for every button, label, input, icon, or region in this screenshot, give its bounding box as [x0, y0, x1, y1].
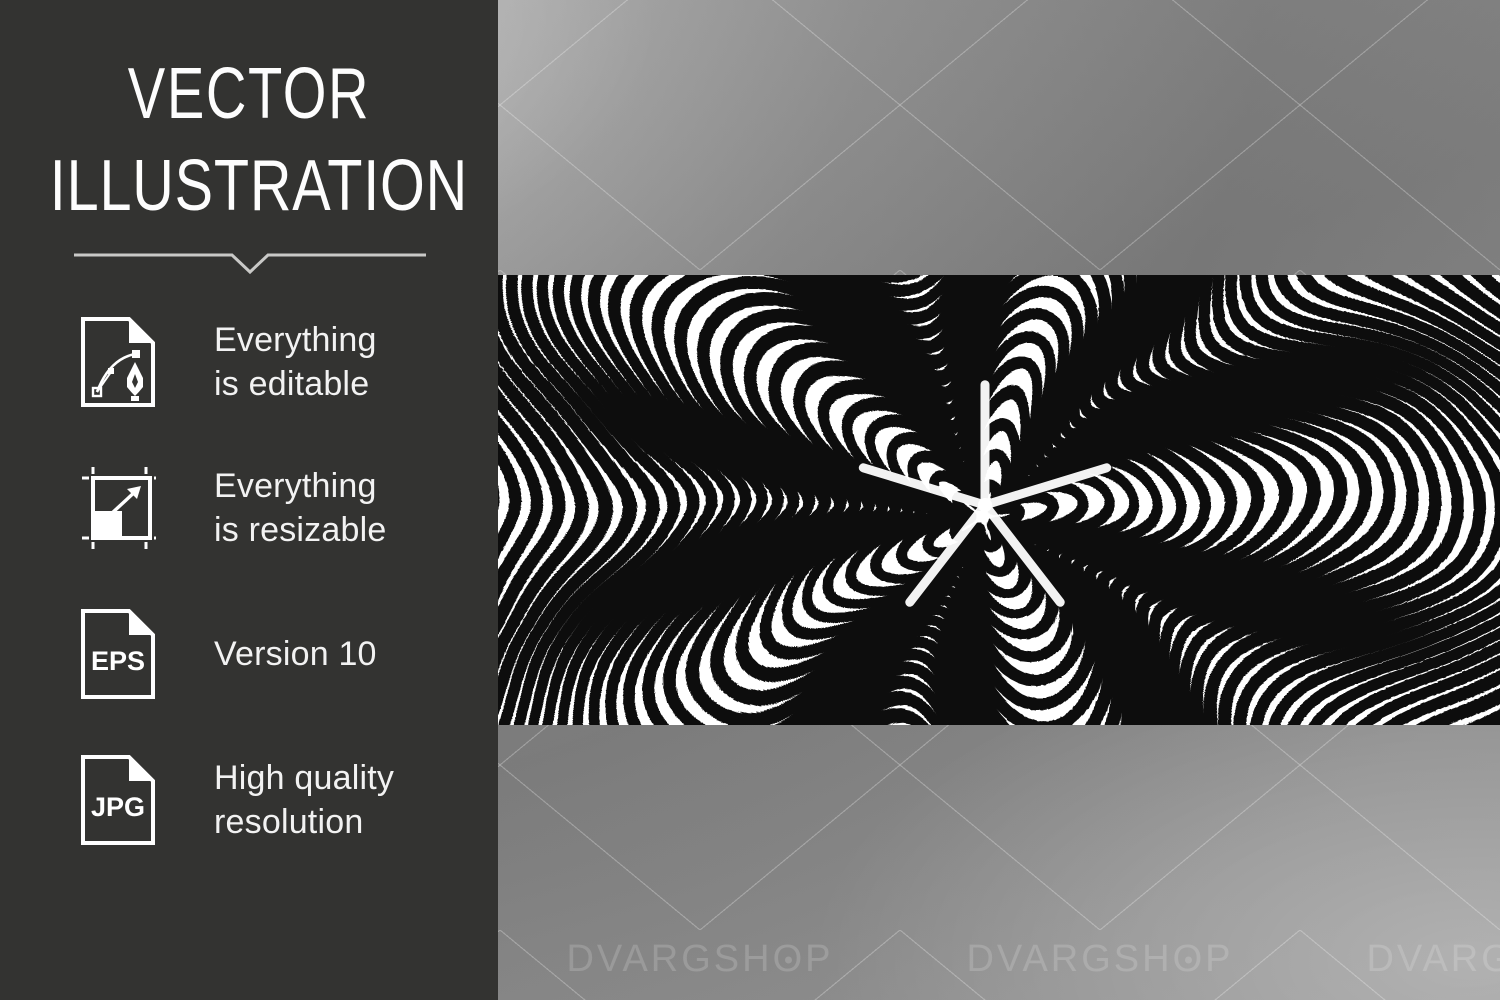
eps-file-icon-label: EPS	[91, 646, 145, 676]
feature-label-resizable: Everything is resizable	[214, 464, 386, 552]
title-block: VECTOR ILLUSTRATION	[0, 58, 498, 222]
feature-item-eps: EPS Version 10	[0, 598, 498, 710]
page-subtitle: ILLUSTRATION	[50, 150, 448, 222]
page-title: VECTOR	[55, 58, 443, 130]
feature-label-version: Version 10	[214, 632, 377, 676]
feature-item-editable: Everything is editable	[0, 306, 498, 418]
divider-notch-icon	[74, 248, 426, 276]
sidebar-panel: VECTOR ILLUSTRATION	[0, 0, 498, 1000]
feature-label-resolution: High quality resolution	[214, 756, 394, 844]
optical-art-stripes-svg	[498, 275, 1500, 725]
feature-list: Everything is editable	[0, 306, 498, 856]
feature-item-resizable: Everything is resizable	[0, 452, 498, 564]
feature-item-jpg: JPG High quality resolution	[0, 744, 498, 856]
jpg-file-icon-label: JPG	[91, 792, 145, 822]
optical-art-artwork	[498, 275, 1500, 725]
resize-crop-marks-icon	[80, 462, 156, 554]
eps-file-icon: EPS	[80, 608, 156, 700]
jpg-file-icon: JPG	[80, 754, 156, 846]
document-pen-tool-icon	[80, 316, 156, 408]
feature-label-editable: Everything is editable	[214, 318, 377, 406]
poster-canvas: DVARGSHOPDVARGSHOPDVARGSHOPDVARGSHOPDVAR…	[0, 0, 1500, 1000]
title-divider	[74, 248, 426, 276]
